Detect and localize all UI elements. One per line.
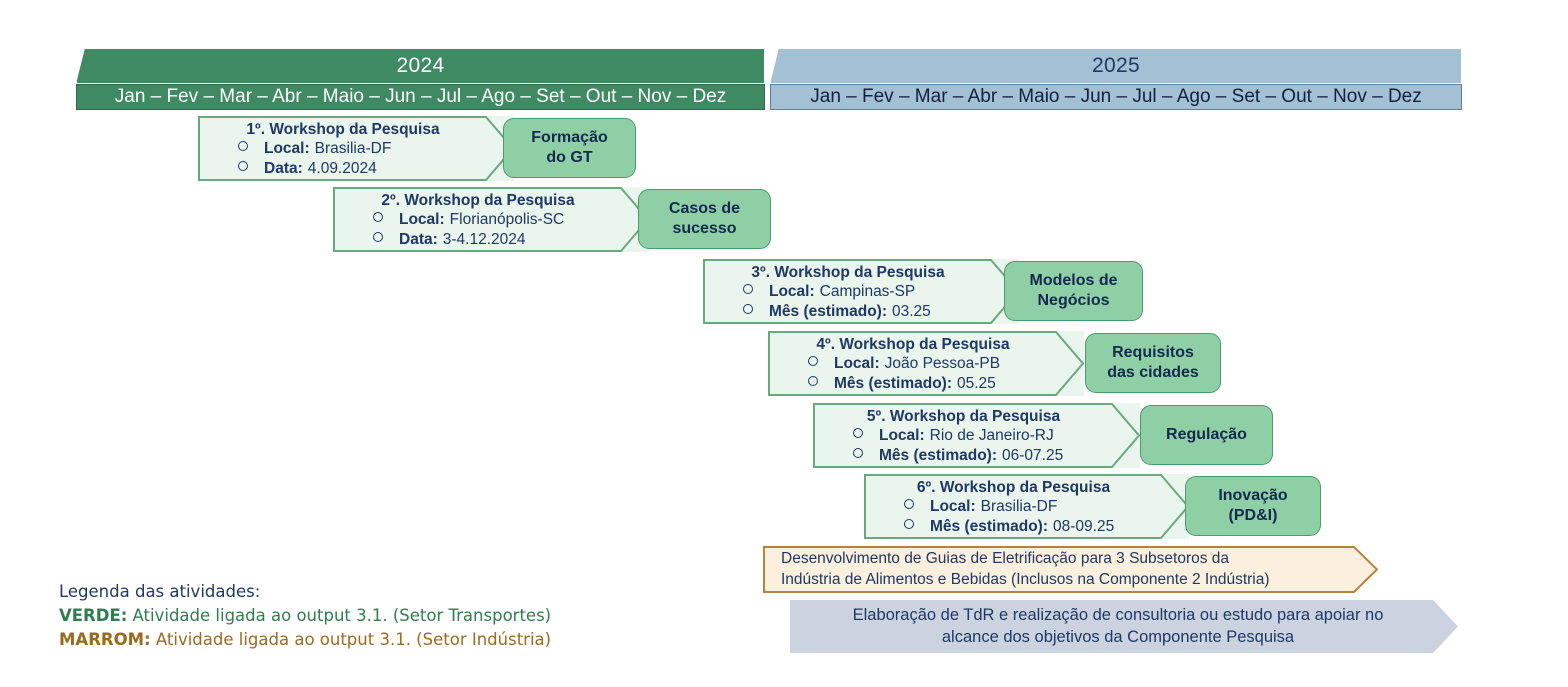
year-banner-2025: 2025 bbox=[770, 48, 1462, 84]
legend-entry-marrom-key: MARROM: bbox=[59, 630, 151, 649]
roadmap-diagram: 2024 Jan – Fev – Mar – Abr – Maio – Jun … bbox=[0, 0, 1568, 687]
legend-entry-marrom: MARROM: Atividade ligada ao output 3.1. … bbox=[59, 628, 579, 652]
workshop-3-field-local: Local: Campinas-SP bbox=[717, 282, 985, 301]
workshop-5-field-local-label: Local: bbox=[879, 426, 925, 445]
workshop-5-field-mes-value: 06-07.25 bbox=[1002, 446, 1063, 465]
workshop-6-field-local-value: Brasilia-DF bbox=[981, 497, 1058, 516]
workshop-5-result-box[interactable]: Regulação bbox=[1140, 405, 1273, 465]
workshop-4-field-mes: Mês (estimado): 05.25 bbox=[782, 374, 1050, 393]
activity-bar-tdr-line1: Elaboração de TdR e realização de consul… bbox=[853, 605, 1384, 626]
workshop-1-title: 1º. Workshop da Pesquisa bbox=[212, 121, 480, 139]
workshop-4-field-local-value: João Pessoa-PB bbox=[885, 354, 1000, 373]
workshop-block-6[interactable]: 6º. Workshop da Pesquisa Local: Brasilia… bbox=[864, 474, 1189, 539]
legend-entry-verde-key: VERDE: bbox=[59, 606, 127, 625]
workshop-4-field-mes-value: 05.25 bbox=[957, 374, 996, 393]
bullet-circle-icon bbox=[853, 448, 863, 458]
workshop-2-field-local-label: Local: bbox=[399, 210, 445, 229]
workshop-2-result-line1: Casos de bbox=[669, 199, 740, 219]
workshop-5-title: 5º. Workshop da Pesquisa bbox=[827, 408, 1106, 426]
workshop-5-result-line1: Regulação bbox=[1166, 425, 1247, 445]
workshop-3-field-mes-value: 03.25 bbox=[892, 302, 931, 321]
workshop-6-field-local: Local: Brasilia-DF bbox=[878, 497, 1155, 516]
workshop-2-field-data: Data: 3-4.12.2024 bbox=[347, 230, 615, 249]
workshop-2-result-line2: sucesso bbox=[669, 219, 740, 239]
workshop-2-title: 2º. Workshop da Pesquisa bbox=[347, 192, 615, 210]
month-strip-2024-label: Jan – Fev – Mar – Abr – Maio – Jun – Jul… bbox=[115, 86, 727, 108]
workshop-3-field-mes: Mês (estimado): 03.25 bbox=[717, 302, 985, 321]
legend-entry-verde-text: Atividade ligada ao output 3.1. (Setor T… bbox=[127, 606, 551, 625]
workshop-block-3[interactable]: 3º. Workshop da Pesquisa Local: Campinas… bbox=[703, 259, 1019, 324]
workshop-3-result-line1: Modelos de bbox=[1029, 271, 1117, 291]
activity-bar-guias-line2: Indústria de Alimentos e Bebidas (Inclus… bbox=[781, 570, 1348, 590]
workshop-1-field-data: Data: 4.09.2024 bbox=[212, 159, 480, 178]
workshop-6-result-box[interactable]: Inovação (PD&I) bbox=[1185, 476, 1321, 536]
year-banner-2024: 2024 bbox=[76, 48, 765, 84]
workshop-3-title: 3º. Workshop da Pesquisa bbox=[717, 264, 985, 282]
workshop-4-field-local-label: Local: bbox=[834, 354, 880, 373]
month-strip-2024: Jan – Fev – Mar – Abr – Maio – Jun – Jul… bbox=[76, 84, 765, 110]
workshop-5-field-local-value: Rio de Janeiro-RJ bbox=[930, 426, 1054, 445]
workshop-1-result-line2: do GT bbox=[531, 148, 607, 168]
legend-entry-marrom-text: Atividade ligada ao output 3.1. (Setor I… bbox=[151, 630, 551, 649]
workshop-2-field-local-value: Florianópolis-SC bbox=[450, 210, 565, 229]
workshop-1-field-local-value: Brasilia-DF bbox=[315, 139, 392, 158]
activity-bar-guias-eletrificacao[interactable]: Desenvolvimento de Guias de Eletrificaçã… bbox=[763, 546, 1378, 593]
workshop-1-field-local: Local: Brasilia-DF bbox=[212, 139, 480, 158]
workshop-2-field-data-label: Data: bbox=[399, 230, 438, 249]
workshop-6-field-mes-label: Mês (estimado): bbox=[930, 517, 1048, 536]
workshop-1-field-local-label: Local: bbox=[264, 139, 310, 158]
workshop-4-result-box[interactable]: Requisitos das cidades bbox=[1085, 333, 1221, 393]
activity-bar-tdr-line2: alcance dos objetivos da Componente Pesq… bbox=[853, 627, 1384, 648]
bullet-circle-icon bbox=[808, 356, 818, 366]
activity-bar-tdr-consultoria[interactable]: Elaboração de TdR e realização de consul… bbox=[790, 600, 1458, 653]
bullet-circle-icon bbox=[373, 212, 383, 222]
workshop-4-title: 4º. Workshop da Pesquisa bbox=[782, 336, 1050, 354]
workshop-4-field-mes-label: Mês (estimado): bbox=[834, 374, 952, 393]
activity-bar-guias-text: Desenvolvimento de Guias de Eletrificaçã… bbox=[763, 549, 1378, 589]
workshop-2-field-data-value: 3-4.12.2024 bbox=[443, 230, 526, 249]
bullet-circle-icon bbox=[238, 141, 248, 151]
workshop-5-field-local: Local: Rio de Janeiro-RJ bbox=[827, 426, 1106, 445]
workshop-block-5[interactable]: 5º. Workshop da Pesquisa Local: Rio de J… bbox=[813, 403, 1140, 468]
workshop-2-field-local: Local: Florianópolis-SC bbox=[347, 210, 615, 229]
workshop-6-field-mes: Mês (estimado): 08-09.25 bbox=[878, 517, 1155, 536]
workshop-3-field-mes-label: Mês (estimado): bbox=[769, 302, 887, 321]
workshop-6-field-mes-value: 08-09.25 bbox=[1053, 517, 1114, 536]
workshop-6-result-line1: Inovação bbox=[1218, 486, 1287, 506]
legend-entry-verde: VERDE: Atividade ligada ao output 3.1. (… bbox=[59, 604, 579, 628]
year-banner-2024-label: 2024 bbox=[397, 54, 445, 78]
workshop-3-result-box[interactable]: Modelos de Negócios bbox=[1004, 261, 1143, 321]
legend: Legenda das atividades: VERDE: Atividade… bbox=[59, 580, 579, 652]
workshop-1-result-box[interactable]: Formação do GT bbox=[503, 118, 636, 178]
workshop-block-1[interactable]: 1º. Workshop da Pesquisa Local: Brasilia… bbox=[198, 116, 514, 181]
bullet-circle-icon bbox=[904, 519, 914, 529]
workshop-6-field-local-label: Local: bbox=[930, 497, 976, 516]
workshop-4-result-line2: das cidades bbox=[1107, 363, 1199, 383]
workshop-1-result-line1: Formação bbox=[531, 128, 607, 148]
workshop-6-result-line2: (PD&I) bbox=[1218, 506, 1287, 526]
bullet-circle-icon bbox=[373, 232, 383, 242]
workshop-block-4[interactable]: 4º. Workshop da Pesquisa Local: João Pes… bbox=[768, 331, 1084, 396]
month-strip-2025: Jan – Fev – Mar – Abr – Maio – Jun – Jul… bbox=[770, 84, 1462, 110]
workshop-5-field-mes: Mês (estimado): 06-07.25 bbox=[827, 446, 1106, 465]
month-strip-2025-label: Jan – Fev – Mar – Abr – Maio – Jun – Jul… bbox=[810, 86, 1422, 108]
workshop-4-result-line1: Requisitos bbox=[1107, 343, 1199, 363]
bullet-circle-icon bbox=[743, 284, 753, 294]
bullet-circle-icon bbox=[808, 376, 818, 386]
activity-bar-tdr-text: Elaboração de TdR e realização de consul… bbox=[835, 605, 1414, 648]
workshop-6-title: 6º. Workshop da Pesquisa bbox=[878, 479, 1155, 497]
workshop-5-field-mes-label: Mês (estimado): bbox=[879, 446, 997, 465]
workshop-4-field-local: Local: João Pessoa-PB bbox=[782, 354, 1050, 373]
year-banner-2025-label: 2025 bbox=[1092, 54, 1140, 78]
bullet-circle-icon bbox=[853, 428, 863, 438]
workshop-2-result-box[interactable]: Casos de sucesso bbox=[638, 189, 771, 249]
workshop-1-field-data-value: 4.09.2024 bbox=[308, 159, 377, 178]
workshop-3-result-line2: Negócios bbox=[1029, 291, 1117, 311]
legend-title: Legenda das atividades: bbox=[59, 580, 579, 604]
workshop-3-field-local-label: Local: bbox=[769, 282, 815, 301]
activity-bar-guias-line1: Desenvolvimento de Guias de Eletrificaçã… bbox=[781, 549, 1348, 569]
bullet-circle-icon bbox=[238, 161, 248, 171]
bullet-circle-icon bbox=[743, 304, 753, 314]
workshop-block-2[interactable]: 2º. Workshop da Pesquisa Local: Florianó… bbox=[333, 187, 649, 252]
bullet-circle-icon bbox=[904, 499, 914, 509]
workshop-3-field-local-value: Campinas-SP bbox=[820, 282, 916, 301]
workshop-1-field-data-label: Data: bbox=[264, 159, 303, 178]
